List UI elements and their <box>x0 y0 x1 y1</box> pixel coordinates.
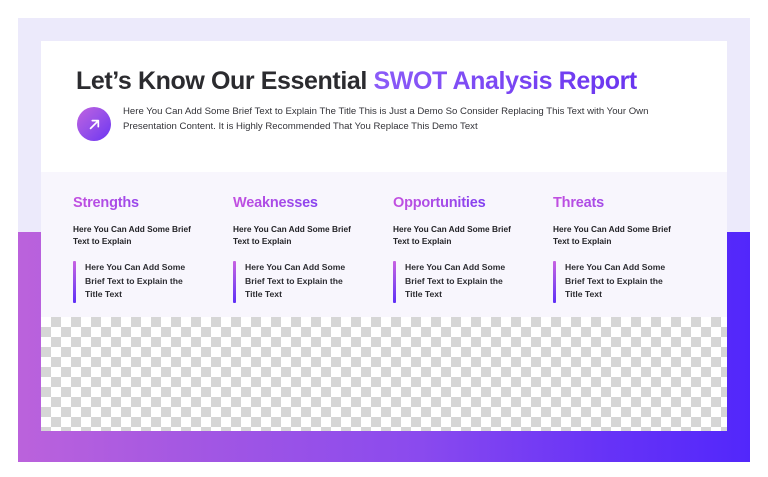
column-note: Here You Can Add Some Brief Text to Expl… <box>553 261 681 303</box>
swot-column-strengths: Strengths Here You Can Add Some Brief Te… <box>41 172 201 303</box>
column-subtitle: Here You Can Add Some Brief Text to Expl… <box>73 224 201 247</box>
slide-canvas: Let’s Know Our Essential SWOT Analysis R… <box>0 0 768 477</box>
column-subtitle: Here You Can Add Some Brief Text to Expl… <box>233 224 361 247</box>
page-title-plain: Let’s Know Our Essential <box>76 67 373 95</box>
page-title-accent: SWOT Analysis Report <box>373 67 636 95</box>
accent-bar <box>73 261 76 303</box>
accent-bar <box>233 261 236 303</box>
slide-content-card: Let’s Know Our Essential SWOT Analysis R… <box>41 41 727 431</box>
accent-bar <box>553 261 556 303</box>
swot-column-threats: Threats Here You Can Add Some Brief Text… <box>521 172 681 303</box>
column-note: Here You Can Add Some Brief Text to Expl… <box>73 261 201 303</box>
page-title: Let’s Know Our Essential SWOT Analysis R… <box>76 67 637 96</box>
column-subtitle: Here You Can Add Some Brief Text to Expl… <box>553 224 681 247</box>
column-title: Threats <box>553 195 681 211</box>
column-note: Here You Can Add Some Brief Text to Expl… <box>233 261 361 303</box>
intro-paragraph: Here You Can Add Some Brief Text to Expl… <box>123 105 683 134</box>
swot-column-opportunities: Opportunities Here You Can Add Some Brie… <box>361 172 521 303</box>
accent-bar <box>393 261 396 303</box>
column-title: Opportunities <box>393 195 521 211</box>
column-note: Here You Can Add Some Brief Text to Expl… <box>393 261 521 303</box>
column-note-text: Here You Can Add Some Brief Text to Expl… <box>245 261 357 303</box>
column-note-text: Here You Can Add Some Brief Text to Expl… <box>85 261 197 303</box>
column-subtitle: Here You Can Add Some Brief Text to Expl… <box>393 224 521 247</box>
swot-columns: Strengths Here You Can Add Some Brief Te… <box>41 172 727 303</box>
arrow-up-right-icon <box>77 107 111 141</box>
swot-column-weaknesses: Weaknesses Here You Can Add Some Brief T… <box>201 172 361 303</box>
column-note-text: Here You Can Add Some Brief Text to Expl… <box>405 261 517 303</box>
header-section: Let’s Know Our Essential SWOT Analysis R… <box>41 41 727 172</box>
transparency-checkerboard <box>41 317 727 431</box>
intro-row: Here You Can Add Some Brief Text to Expl… <box>77 105 697 141</box>
column-title: Strengths <box>73 195 201 211</box>
column-title: Weaknesses <box>233 195 361 211</box>
column-note-text: Here You Can Add Some Brief Text to Expl… <box>565 261 677 303</box>
swot-columns-section: Strengths Here You Can Add Some Brief Te… <box>41 172 727 317</box>
